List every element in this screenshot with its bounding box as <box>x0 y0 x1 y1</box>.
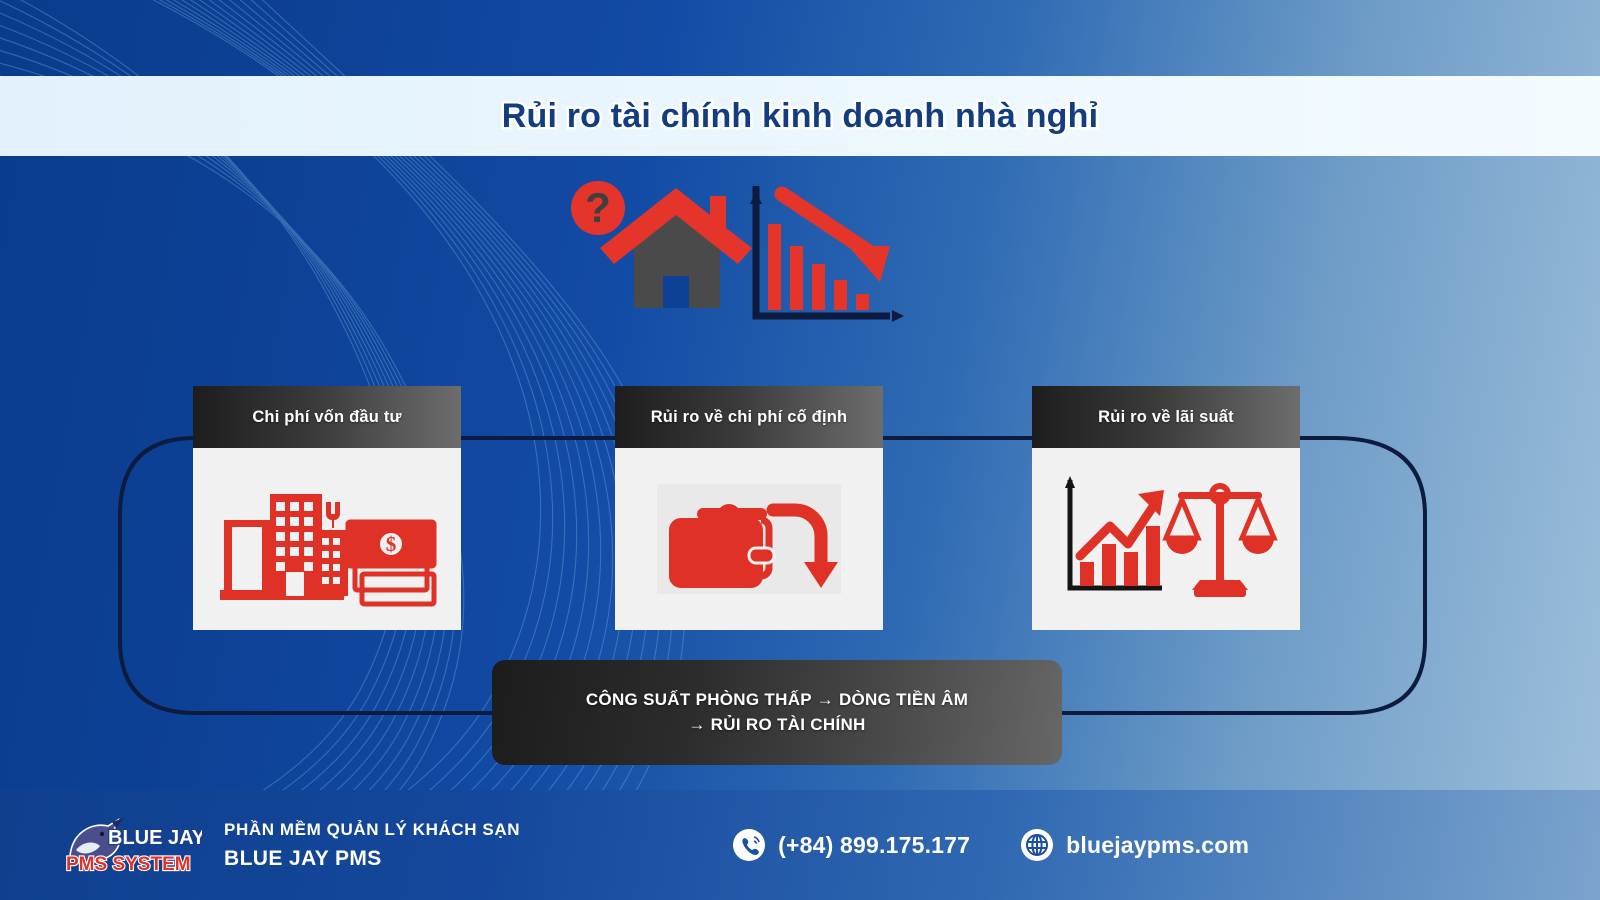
card-3-icons <box>1054 464 1279 614</box>
company-logo[interactable]: BLUE JAY PMS SYSTEM <box>62 814 202 876</box>
risk-card-capital-cost[interactable]: Chi phí vốn đầu tư <box>193 386 461 630</box>
card-title: Rủi ro về lãi suất <box>1098 408 1234 427</box>
card-body: $ <box>193 448 461 630</box>
question-mark-icon: ? <box>571 181 625 235</box>
svg-text:$: $ <box>386 532 397 556</box>
rising-bar-chart-icon <box>1065 476 1164 588</box>
contact-phone[interactable]: (+84) 899.175.177 <box>732 828 970 862</box>
card-header: Rủi ro về lãi suất <box>1032 386 1300 448</box>
brand-text-block: PHẦN MỀM QUẢN LÝ KHÁCH SẠN BLUE JAY PMS <box>224 820 520 871</box>
title-band: Rủi ro tài chính kinh doanh nhà nghỉ <box>0 76 1600 156</box>
card-body <box>615 448 883 630</box>
page-title: Rủi ro tài chính kinh doanh nhà nghỉ <box>502 97 1099 136</box>
card-body <box>1032 448 1300 630</box>
website-url: bluejaypms.com <box>1066 832 1249 859</box>
logo-text-secondary: PMS SYSTEM <box>66 854 191 875</box>
summary-line-2: → RỦI RO TÀI CHÍNH <box>688 715 865 735</box>
declining-bar-chart-icon <box>750 186 904 322</box>
phone-icon <box>732 828 766 862</box>
blue-jay-logo-icon: BLUE JAY PMS SYSTEM <box>62 814 202 876</box>
card-2-icons <box>649 464 849 614</box>
brand-name: BLUE JAY PMS <box>224 847 520 871</box>
card-title: Chi phí vốn đầu tư <box>252 408 401 427</box>
risk-card-fixed-cost[interactable]: Rủi ro về chi phí cố định <box>615 386 883 630</box>
infographic-canvas: Rủi ro tài chính kinh doanh nhà nghỉ ? <box>0 0 1600 900</box>
footer-bar: BLUE JAY PMS SYSTEM PHẦN MỀM QUẢN LÝ KHÁ… <box>0 790 1600 900</box>
svg-text:?: ? <box>585 184 611 231</box>
summary-flow-box: CÔNG SUẤT PHÒNG THẤP → DÒNG TIỀN ÂM → RỦ… <box>492 660 1062 765</box>
summary-line-1: CÔNG SUẤT PHÒNG THẤP → DÒNG TIỀN ÂM <box>586 690 968 710</box>
brand-tagline: PHẦN MỀM QUẢN LÝ KHÁCH SẠN <box>224 820 520 840</box>
contact-website[interactable]: bluejaypms.com <box>1020 828 1249 862</box>
hero-illustration: ? <box>560 168 920 340</box>
balance-scale-icon <box>1166 486 1274 597</box>
phone-number: (+84) 899.175.177 <box>778 832 970 859</box>
logo-text-primary: BLUE JAY <box>108 827 202 849</box>
card-1-icons: $ <box>212 464 442 614</box>
card-title: Rủi ro về chi phí cố định <box>651 408 848 427</box>
building-icon <box>220 494 348 600</box>
risk-card-interest-rate[interactable]: Rủi ro về lãi suất <box>1032 386 1300 630</box>
card-header: Chi phí vốn đầu tư <box>193 386 461 448</box>
card-header: Rủi ro về chi phí cố định <box>615 386 883 448</box>
globe-icon <box>1020 828 1054 862</box>
